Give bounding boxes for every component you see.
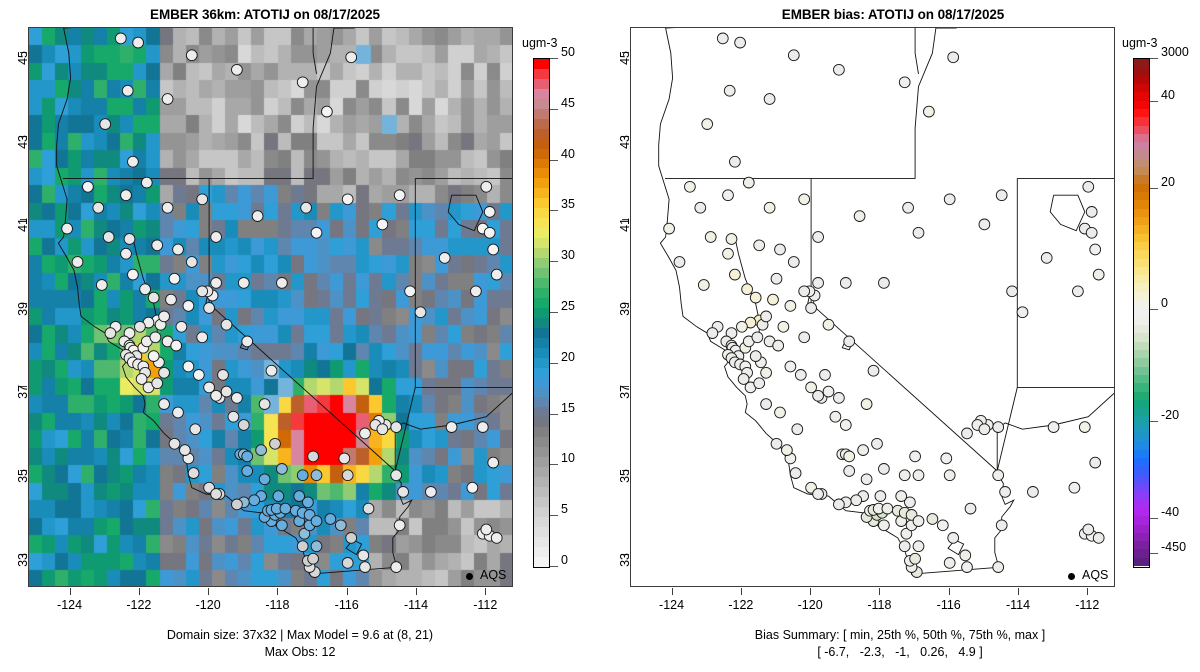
x-axis-tick xyxy=(1087,588,1088,595)
bias-site-marker xyxy=(742,284,753,295)
panel-bias: EMBER bias: ATOTIJ on 08/17/2025 4543413… xyxy=(600,0,1200,672)
obs-site-marker xyxy=(204,382,215,393)
obs-site-marker xyxy=(122,85,133,96)
obs-site-marker xyxy=(159,311,170,322)
bias-site-marker xyxy=(899,541,910,552)
obs-site-marker xyxy=(93,202,104,213)
colorbar-segment xyxy=(1134,134,1149,142)
colorbar-tick-label: 50 xyxy=(561,52,575,53)
bias-site-marker xyxy=(840,278,851,289)
obs-site-marker xyxy=(360,428,371,439)
bias-site-marker xyxy=(771,438,782,449)
colorbar-segment xyxy=(1134,508,1149,516)
bias-site-marker xyxy=(1073,286,1084,297)
bias-observation-points-right xyxy=(631,28,1115,587)
obs-site-marker xyxy=(394,520,405,531)
obs-site-marker xyxy=(238,278,249,289)
bias-site-marker xyxy=(910,553,921,564)
colorbar-segment xyxy=(1134,375,1149,383)
obs-site-marker xyxy=(183,301,194,312)
colorbar-tick xyxy=(550,312,558,313)
aqs-legend-label-right: AQS xyxy=(1082,568,1108,582)
obs-site-marker xyxy=(491,269,502,280)
colorbar-segment xyxy=(534,109,549,119)
obs-site-marker xyxy=(166,294,177,305)
colorbar-segment xyxy=(534,208,549,218)
obs-site-marker xyxy=(311,516,322,527)
x-axis-label: -120 xyxy=(178,598,238,612)
x-axis-tick xyxy=(1018,588,1019,595)
y-axis-label: 41 xyxy=(16,218,30,244)
obs-site-marker xyxy=(124,234,135,245)
colorbar-tick-label: 25 xyxy=(561,306,575,307)
obs-site-marker xyxy=(238,420,249,431)
colorbar-segment xyxy=(534,527,549,537)
bias-site-marker xyxy=(685,181,696,192)
obs-site-marker xyxy=(232,393,243,404)
colorbar-tick xyxy=(550,58,558,59)
bias-site-marker xyxy=(1028,487,1039,498)
obs-site-marker xyxy=(148,292,159,303)
y-axis-label: 43 xyxy=(618,135,632,161)
colorbar-segment xyxy=(1134,209,1149,217)
y-axis-label: 35 xyxy=(16,469,30,495)
x-axis-label: -124 xyxy=(40,598,100,612)
y-axis-label: 41 xyxy=(618,218,632,244)
colorbar-tick xyxy=(550,363,558,364)
colorbar-segment xyxy=(534,178,549,188)
colorbar-segment xyxy=(1134,400,1149,408)
colorbar-segment xyxy=(1134,84,1149,92)
colorbar-segment xyxy=(534,447,549,457)
colorbar-tick-label: 0 xyxy=(561,560,568,561)
colorbar-tick-label: 0 xyxy=(1161,303,1168,304)
colorbar-tick-label: 20 xyxy=(561,357,575,358)
colorbar-segment xyxy=(534,168,549,178)
bias-site-marker xyxy=(1090,244,1101,255)
bias-site-marker xyxy=(962,428,973,439)
obs-site-marker xyxy=(221,319,232,330)
colorbar-segment xyxy=(1134,142,1149,150)
bias-site-marker xyxy=(948,52,959,63)
obs-site-marker xyxy=(159,367,170,378)
obs-site-marker xyxy=(169,438,180,449)
colorbar-segment xyxy=(1134,541,1149,549)
colorbar-right-gradient xyxy=(1133,58,1150,568)
obs-site-marker xyxy=(188,468,199,479)
obs-site-marker xyxy=(394,190,405,201)
bias-site-marker xyxy=(879,278,890,289)
x-axis-label: -114 xyxy=(988,598,1048,612)
colorbar-segment xyxy=(1134,184,1149,192)
obs-site-marker xyxy=(162,94,173,105)
obs-site-marker xyxy=(100,119,111,130)
colorbar-tick-label: 5 xyxy=(561,509,568,510)
colorbar-segment xyxy=(1134,416,1149,424)
colorbar-model: ugm-3 50454035302520151050 xyxy=(522,36,600,581)
obs-site-marker xyxy=(193,370,204,381)
obs-site-marker xyxy=(96,280,107,291)
colorbar-segment xyxy=(1134,200,1149,208)
colorbar-segment xyxy=(1134,533,1149,541)
colorbar-segment xyxy=(1134,242,1149,250)
obs-site-marker xyxy=(221,386,232,397)
bias-site-marker xyxy=(1083,524,1094,535)
x-axis-tick xyxy=(70,588,71,595)
bias-site-marker xyxy=(764,202,775,213)
caption-bias-summary-header: Bias Summary: [ min, 25th %, 50th %, 75t… xyxy=(600,628,1200,642)
bias-site-marker xyxy=(899,77,910,88)
bias-site-marker xyxy=(785,301,796,312)
bias-site-marker xyxy=(813,489,824,500)
x-axis-tick xyxy=(879,588,880,595)
bias-site-marker xyxy=(868,365,879,376)
colorbar-segment xyxy=(534,378,549,388)
colorbar-segment xyxy=(534,467,549,477)
obs-site-marker xyxy=(311,227,322,238)
obs-site-marker xyxy=(301,202,312,213)
colorbar-tick xyxy=(1150,309,1158,310)
colorbar-segment xyxy=(534,69,549,79)
colorbar-segment xyxy=(534,397,549,407)
obs-site-marker xyxy=(218,370,229,381)
bias-site-marker xyxy=(768,294,779,305)
bias-site-marker xyxy=(979,424,990,435)
figure-canvas: EMBER 36km: ATOTIJ on 08/17/2025 4543413… xyxy=(0,0,1200,672)
colorbar-left-gradient xyxy=(533,58,550,568)
bias-site-marker xyxy=(834,499,845,510)
colorbar-tick xyxy=(550,160,558,161)
obs-site-marker xyxy=(363,503,374,514)
y-axis-label: 35 xyxy=(618,469,632,495)
bias-site-marker xyxy=(965,503,976,514)
obs-site-marker xyxy=(72,257,83,268)
colorbar-segment xyxy=(1134,109,1149,117)
colorbar-segment xyxy=(1134,350,1149,358)
bias-site-marker xyxy=(754,240,765,251)
colorbar-segment xyxy=(1134,292,1149,300)
bias-site-marker xyxy=(726,234,737,245)
obs-site-marker xyxy=(297,77,308,88)
colorbar-segment xyxy=(1134,225,1149,233)
bias-site-marker xyxy=(813,232,824,243)
bias-site-marker xyxy=(858,445,869,456)
bias-site-marker xyxy=(941,453,952,464)
bias-site-marker xyxy=(750,292,761,303)
bias-site-marker xyxy=(778,321,789,332)
obs-site-marker xyxy=(405,286,416,297)
obs-site-marker xyxy=(311,541,322,552)
colorbar-segment xyxy=(1134,425,1149,433)
bias-site-marker xyxy=(750,351,761,362)
colorbar-segment xyxy=(1134,283,1149,291)
obs-site-marker xyxy=(346,52,357,63)
obs-site-marker xyxy=(484,227,495,238)
colorbar-segment xyxy=(534,487,549,497)
colorbar-tick-label: -450 xyxy=(1161,547,1186,548)
bias-site-marker xyxy=(924,106,935,117)
colorbar-segment xyxy=(534,298,549,308)
colorbar-segment xyxy=(534,238,549,248)
colorbar-segment xyxy=(1134,250,1149,258)
bias-site-marker xyxy=(910,451,921,462)
obs-site-marker xyxy=(121,248,132,259)
bias-site-marker xyxy=(844,466,855,477)
colorbar-segment xyxy=(1134,175,1149,183)
x-axis-tick xyxy=(416,588,417,595)
bias-site-marker xyxy=(664,223,675,234)
bias-site-marker xyxy=(854,211,865,222)
colorbar-segment xyxy=(1134,92,1149,100)
x-axis-label: -122 xyxy=(711,598,771,612)
obs-site-marker xyxy=(294,491,305,502)
colorbar-segment xyxy=(1134,525,1149,533)
bias-site-marker xyxy=(875,491,886,502)
colorbar-segment xyxy=(534,348,549,358)
bias-site-marker xyxy=(944,558,955,569)
bias-site-marker xyxy=(882,503,893,514)
colorbar-segment xyxy=(1134,549,1149,557)
colorbar-right-units: ugm-3 xyxy=(1122,36,1157,50)
colorbar-segment xyxy=(1134,76,1149,84)
bias-site-marker xyxy=(899,470,910,481)
obs-site-marker xyxy=(346,533,357,544)
colorbar-tick-label: -20 xyxy=(1161,415,1179,416)
colorbar-segment xyxy=(534,547,549,557)
bias-site-marker xyxy=(820,370,831,381)
bias-site-marker xyxy=(773,340,784,351)
colorbar-segment xyxy=(534,407,549,417)
obs-site-marker xyxy=(128,269,139,280)
obs-site-marker xyxy=(491,533,502,544)
bias-site-marker xyxy=(979,219,990,230)
x-axis-tick xyxy=(208,588,209,595)
obs-site-marker xyxy=(183,361,194,372)
colorbar-segment xyxy=(534,507,549,517)
obs-site-marker xyxy=(308,553,319,564)
obs-site-marker xyxy=(232,64,243,75)
colorbar-segment xyxy=(534,159,549,169)
colorbar-tick xyxy=(1150,553,1158,554)
colorbar-tick xyxy=(550,464,558,465)
bias-site-marker xyxy=(962,562,973,573)
bias-site-marker xyxy=(944,194,955,205)
bias-site-marker xyxy=(993,470,1004,481)
caption-max-obs: Max Obs: 12 xyxy=(0,645,600,659)
colorbar-segment xyxy=(534,387,549,397)
obs-site-marker xyxy=(62,223,73,234)
obs-site-marker xyxy=(273,491,284,502)
bias-site-marker xyxy=(861,399,872,410)
bias-site-marker xyxy=(993,422,1004,433)
x-axis-tick xyxy=(277,588,278,595)
colorbar-segment xyxy=(1134,59,1149,67)
bias-site-marker xyxy=(724,85,735,96)
bias-site-marker xyxy=(752,332,763,343)
obs-site-marker xyxy=(467,482,478,493)
colorbar-segment xyxy=(1134,333,1149,341)
colorbar-tick xyxy=(550,109,558,110)
bias-site-marker xyxy=(913,227,924,238)
bias-site-marker xyxy=(705,232,716,243)
obs-site-marker xyxy=(121,190,132,201)
colorbar-segment xyxy=(1134,159,1149,167)
obs-site-marker xyxy=(446,422,457,433)
caption-bias-summary-values: [ -6.7, -2.3, -1, 0.26, 4.9 ] xyxy=(600,645,1200,659)
obs-site-marker xyxy=(173,407,184,418)
colorbar-tick xyxy=(1150,58,1158,59)
bias-site-marker xyxy=(795,370,806,381)
colorbar-segment xyxy=(1134,516,1149,524)
obs-site-marker xyxy=(477,422,488,433)
obs-site-marker xyxy=(270,438,281,449)
bias-site-marker xyxy=(785,361,796,372)
colorbar-segment xyxy=(534,328,549,338)
bias-site-marker xyxy=(702,119,713,130)
colorbar-segment xyxy=(534,99,549,109)
bias-site-marker xyxy=(1086,227,1097,238)
obs-site-marker xyxy=(342,194,353,205)
obs-site-marker xyxy=(484,207,495,218)
colorbar-segment xyxy=(1134,392,1149,400)
obs-site-marker xyxy=(252,211,263,222)
bias-site-marker xyxy=(823,319,834,330)
x-axis-label: -122 xyxy=(109,598,169,612)
bias-site-marker xyxy=(775,407,786,418)
bias-site-marker xyxy=(879,464,890,475)
bias-site-marker xyxy=(707,328,718,339)
bias-site-marker xyxy=(674,257,685,268)
y-axis-label: 37 xyxy=(16,385,30,411)
colorbar-segment xyxy=(534,338,549,348)
obs-site-marker xyxy=(488,244,499,255)
bias-site-marker xyxy=(948,533,959,544)
obs-site-marker xyxy=(325,514,336,525)
obs-site-marker xyxy=(197,286,208,297)
colorbar-tick-label: 40 xyxy=(561,154,575,155)
obs-site-marker xyxy=(360,562,371,573)
y-axis-label: 39 xyxy=(16,302,30,328)
obs-site-marker xyxy=(228,411,239,422)
panel-model: EMBER 36km: ATOTIJ on 08/17/2025 4543413… xyxy=(0,0,600,672)
colorbar-tick-label: 20 xyxy=(1161,182,1175,183)
colorbar-segment xyxy=(1134,466,1149,474)
bias-site-marker xyxy=(879,520,890,531)
y-axis-label: 37 xyxy=(618,385,632,411)
obs-site-marker xyxy=(249,495,260,506)
bias-site-marker xyxy=(944,470,955,481)
bias-site-marker xyxy=(761,367,772,378)
obs-site-marker xyxy=(232,499,243,510)
aqs-marker-dot-icon xyxy=(1068,573,1075,580)
colorbar-segment xyxy=(534,308,549,318)
colorbar-segment xyxy=(1134,101,1149,109)
colorbar-segment xyxy=(1134,441,1149,449)
obs-site-marker xyxy=(105,328,116,339)
bias-site-marker xyxy=(723,190,734,201)
colorbar-segment xyxy=(534,557,549,567)
bias-site-marker xyxy=(996,520,1007,531)
colorbar-tick xyxy=(550,210,558,211)
obs-site-marker xyxy=(391,422,402,433)
obs-site-marker xyxy=(159,399,170,410)
colorbar-segment xyxy=(534,198,549,208)
colorbar-segment xyxy=(1134,259,1149,267)
obs-site-marker xyxy=(339,453,350,464)
bias-site-marker xyxy=(813,278,824,289)
colorbar-segment xyxy=(534,139,549,149)
bias-site-marker xyxy=(1007,286,1018,297)
bias-site-marker xyxy=(730,156,741,167)
obs-site-marker xyxy=(197,194,208,205)
y-axis-label: 45 xyxy=(618,51,632,77)
colorbar-segment xyxy=(1134,117,1149,125)
x-axis-label: -118 xyxy=(849,598,909,612)
colorbar-segment xyxy=(1134,450,1149,458)
obs-site-marker xyxy=(173,244,184,255)
colorbar-tick-label: 15 xyxy=(561,408,575,409)
bias-site-marker xyxy=(1048,422,1059,433)
bias-site-marker xyxy=(698,280,709,291)
y-axis-label: 33 xyxy=(618,553,632,579)
obs-site-marker xyxy=(152,240,163,251)
bias-site-marker xyxy=(896,491,907,502)
obs-site-marker xyxy=(358,550,369,561)
obs-site-marker xyxy=(377,424,388,435)
bias-site-marker xyxy=(913,516,924,527)
colorbar-segment xyxy=(1134,408,1149,416)
bias-site-marker xyxy=(788,257,799,268)
colorbar-segment xyxy=(1134,308,1149,316)
obs-site-marker xyxy=(415,307,426,318)
colorbar-segment xyxy=(534,517,549,527)
y-axis-label: 45 xyxy=(16,51,30,77)
colorbar-segment xyxy=(1134,300,1149,308)
obs-site-marker xyxy=(148,351,159,362)
bias-site-marker xyxy=(861,474,872,485)
bias-site-marker xyxy=(840,420,851,431)
bias-site-marker xyxy=(788,50,799,61)
colorbar-segment xyxy=(1134,383,1149,391)
y-axis-label: 39 xyxy=(618,302,632,328)
plot-area-bias xyxy=(630,27,1115,587)
colorbar-tick xyxy=(1150,518,1158,519)
aqs-legend-left: AQS xyxy=(480,568,506,582)
colorbar-segment xyxy=(534,358,549,368)
bias-site-marker xyxy=(743,177,754,188)
colorbar-tick xyxy=(550,414,558,415)
bias-site-marker xyxy=(771,273,782,284)
x-axis-label: -116 xyxy=(317,598,377,612)
colorbar-tick xyxy=(550,566,558,567)
obs-site-marker xyxy=(133,37,144,48)
bias-site-marker xyxy=(913,470,924,481)
bias-site-marker xyxy=(1079,422,1090,433)
colorbar-segment xyxy=(1134,475,1149,483)
x-axis-tick xyxy=(949,588,950,595)
obs-site-marker xyxy=(141,177,152,188)
colorbar-segment xyxy=(534,248,549,258)
colorbar-segment xyxy=(534,89,549,99)
obs-site-marker xyxy=(481,181,492,192)
colorbar-segment xyxy=(1134,267,1149,275)
x-axis-tick xyxy=(347,588,348,595)
colorbar-segment xyxy=(534,228,549,238)
bias-site-marker xyxy=(872,438,883,449)
colorbar-segment xyxy=(1134,433,1149,441)
x-axis-tick xyxy=(810,588,811,595)
colorbar-tick-label: 3000 xyxy=(1161,52,1189,53)
